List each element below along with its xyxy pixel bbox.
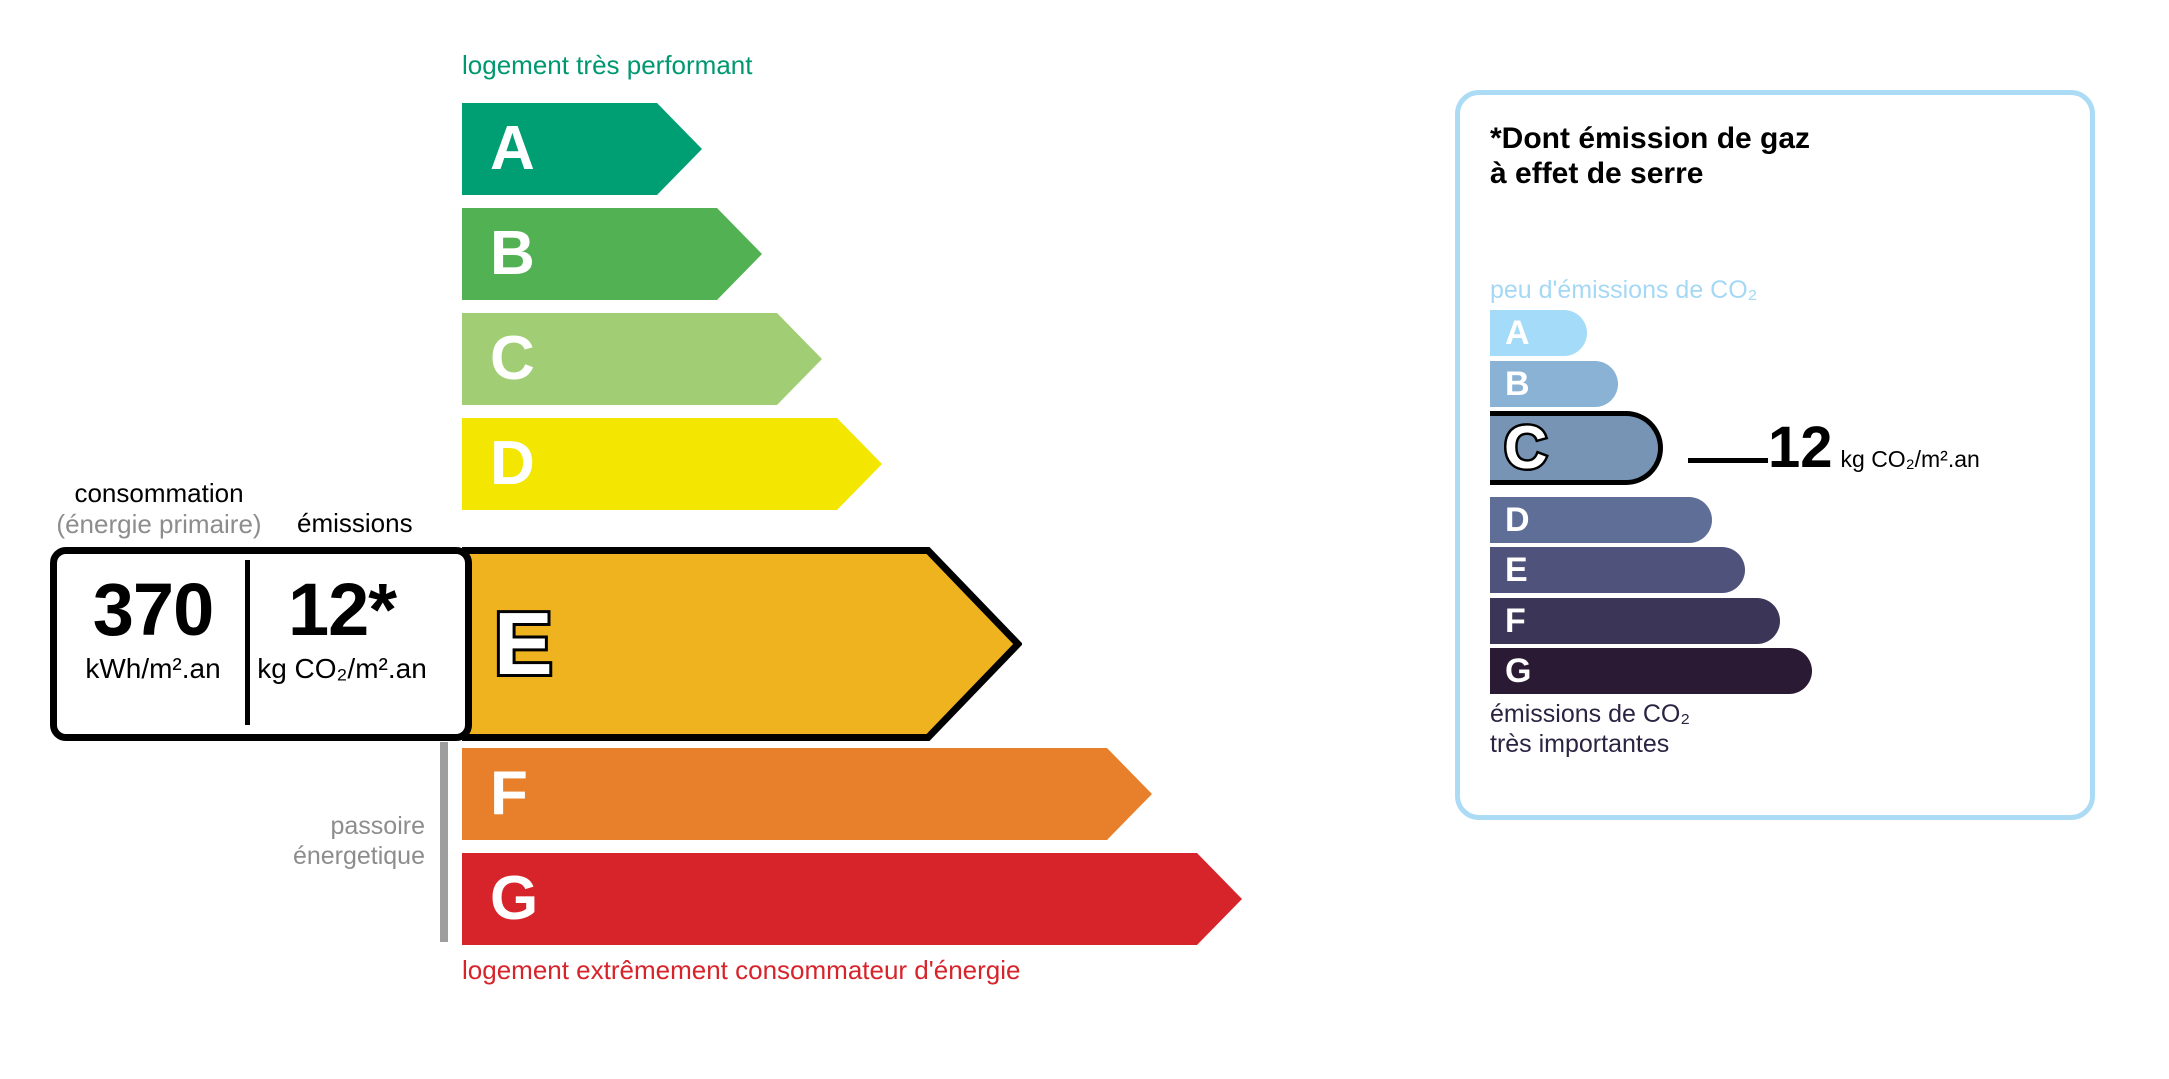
co2-bar-letter: B <box>1505 367 1530 401</box>
energy-band-c[interactable]: C <box>462 313 822 405</box>
co2-bottom-line-1: émissions de CO₂ <box>1490 700 1690 728</box>
co2-bar-letter: A <box>1505 316 1530 350</box>
energy-band-b[interactable]: B <box>462 208 762 300</box>
co2-bar-a[interactable]: A <box>1490 310 1587 356</box>
co2-bar-d[interactable]: D <box>1490 497 1712 543</box>
band-arrow-shape-f <box>462 748 1152 840</box>
co2-bar-letter: G <box>1505 654 1531 688</box>
co2-bar-f[interactable]: F <box>1490 598 1780 644</box>
co2-bar-e[interactable]: E <box>1490 547 1745 593</box>
co2-bar-letter: E <box>1505 553 1528 587</box>
consumption-header-main: consommation <box>74 478 243 508</box>
passoire-line-1: passoire <box>331 812 426 840</box>
band-arrow-shape-g <box>462 853 1242 945</box>
co2-value-unit: kg CO₂/m².an <box>1841 446 1980 472</box>
co2-title-line-1: *Dont émission de gaz <box>1490 122 1810 155</box>
energy-band-letter: B <box>490 223 535 285</box>
energy-band-letter: D <box>490 433 535 495</box>
emission-value: 12* <box>252 573 432 647</box>
passoire-energetique-rule <box>440 742 448 942</box>
co2-bottom-caption: émissions de CO₂ très importantes <box>1490 700 1690 759</box>
co2-bar-letter: C <box>1504 418 1547 478</box>
passoire-energetique-label: passoire énergetique <box>170 812 425 871</box>
consumption-header-sub: (énergie primaire) <box>48 509 270 540</box>
consumption-unit: kWh/m².an <box>63 655 243 683</box>
co2-title-line-2: à effet de serre <box>1490 157 1703 190</box>
passoire-line-2: énergetique <box>293 842 425 870</box>
energy-band-f[interactable]: F <box>462 748 1152 840</box>
values-box-divider <box>245 560 250 725</box>
energy-band-a[interactable]: A <box>462 103 702 195</box>
energy-band-letter: F <box>490 763 528 825</box>
energy-performance-scale: logement très performant A B C D E <box>0 0 1320 1079</box>
co2-top-caption: peu d'émissions de CO₂ <box>1490 276 1757 305</box>
co2-bar-c-selected[interactable]: C <box>1490 411 1663 485</box>
consumption-value: 370 <box>63 573 243 647</box>
co2-bar-b[interactable]: B <box>1490 361 1618 407</box>
co2-bar-g[interactable]: G <box>1490 648 1812 694</box>
emissions-header: émissions <box>297 508 413 539</box>
co2-leader-line <box>1688 458 1768 463</box>
co2-bar-letter: D <box>1505 503 1530 537</box>
energy-band-g[interactable]: G <box>462 853 1242 945</box>
co2-bar-letter: F <box>1505 604 1526 638</box>
energy-band-d[interactable]: D <box>462 418 882 510</box>
co2-bottom-line-2: très importantes <box>1490 730 1669 758</box>
energy-band-e-selected[interactable]: E <box>462 547 1022 741</box>
co2-panel-title: *Dont émission de gaz à effet de serre <box>1490 122 1810 192</box>
consumption-value-cell: 370 kWh/m².an <box>63 573 243 683</box>
energy-band-letter: G <box>490 868 538 930</box>
scale-top-caption: logement très performant <box>462 50 752 81</box>
co2-value-label: 12kg CO₂/m².an <box>1768 419 1980 477</box>
energy-band-letter: C <box>490 328 535 390</box>
consumption-header: consommation (énergie primaire) <box>48 478 270 539</box>
emission-unit: kg CO₂/m².an <box>252 655 432 683</box>
energy-band-letter: E <box>494 600 553 688</box>
co2-value-number: 12 <box>1768 415 1833 480</box>
energy-band-letter: A <box>490 118 535 180</box>
emission-value-cell: 12* kg CO₂/m².an <box>252 573 432 683</box>
scale-bottom-caption: logement extrêmement consommateur d'éner… <box>462 955 1020 986</box>
